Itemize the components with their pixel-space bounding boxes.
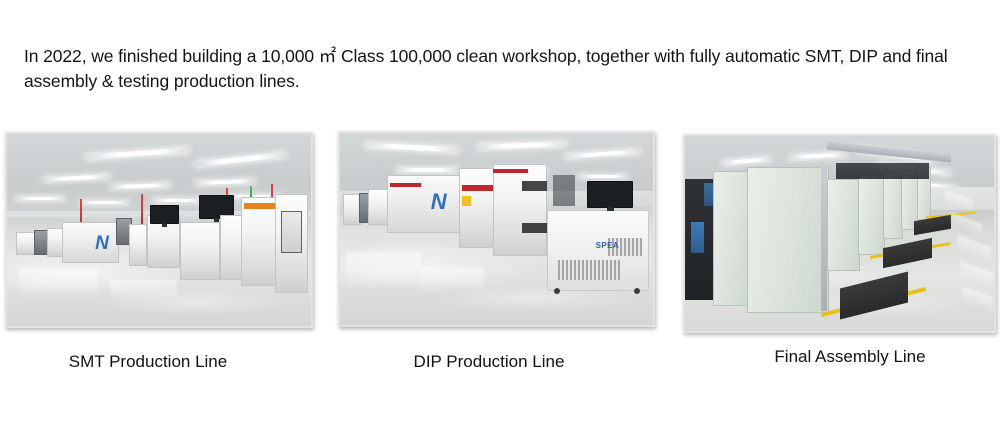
ceiling-light-tube bbox=[396, 168, 459, 172]
caption-dip-production-line: DIP Production Line bbox=[389, 352, 589, 372]
caption-final-assembly-line: Final Assembly Line bbox=[750, 347, 950, 367]
reflow-oven bbox=[62, 222, 120, 262]
floor-reflection bbox=[110, 280, 177, 303]
photo-card-smt[interactable]: N bbox=[5, 132, 313, 328]
photo-dip-production-line: N SPEA bbox=[340, 133, 653, 325]
brand-logo: N bbox=[431, 191, 447, 213]
accent-stripe bbox=[390, 183, 421, 187]
warning-label bbox=[462, 196, 471, 206]
accent-stripe bbox=[493, 169, 527, 173]
station-cabinet bbox=[827, 179, 860, 271]
machine-unit bbox=[553, 175, 575, 206]
floor-reflection bbox=[421, 267, 484, 294]
operator-monitor bbox=[150, 205, 179, 224]
brand-logo: N bbox=[95, 234, 109, 253]
floor-reflection bbox=[19, 268, 98, 299]
blue-panel bbox=[691, 222, 703, 253]
station-cabinet bbox=[858, 175, 885, 255]
control-cabinet bbox=[747, 167, 829, 313]
caption-smt-production-line: SMT Production Line bbox=[48, 352, 248, 372]
ceiling-light-tube bbox=[80, 201, 129, 204]
photo-final-assembly-line bbox=[685, 136, 994, 331]
photo-card-dip[interactable]: N SPEA bbox=[338, 131, 655, 327]
signal-post bbox=[141, 194, 143, 225]
machine-window bbox=[281, 211, 302, 253]
page-title: In 2022, we finished building a 10,000 ㎡… bbox=[24, 44, 974, 94]
caster-wheel bbox=[554, 288, 560, 294]
ceiling-light-tube bbox=[578, 175, 628, 178]
ceiling-light-tube bbox=[153, 199, 202, 202]
overhead-rail bbox=[836, 163, 929, 179]
machine-unit bbox=[180, 222, 220, 280]
machine-unit bbox=[241, 197, 277, 285]
warning-label bbox=[244, 203, 274, 209]
equipment-brand-label: SPEA bbox=[596, 241, 619, 250]
spea-test-cart: SPEA bbox=[547, 210, 649, 291]
ceiling-light-tube bbox=[16, 197, 65, 200]
caster-wheel bbox=[634, 288, 640, 294]
photo-smt-production-line: N bbox=[7, 134, 311, 326]
machine-unit bbox=[493, 164, 546, 256]
floor-reflection bbox=[346, 252, 421, 290]
vent-grille bbox=[522, 223, 547, 233]
machine-unit bbox=[129, 224, 147, 266]
operator-monitor bbox=[587, 181, 633, 208]
vent-grille bbox=[558, 260, 620, 280]
photo-card-final-assembly[interactable] bbox=[683, 134, 996, 333]
station-cabinet bbox=[883, 171, 904, 239]
vent-grille bbox=[522, 181, 547, 191]
